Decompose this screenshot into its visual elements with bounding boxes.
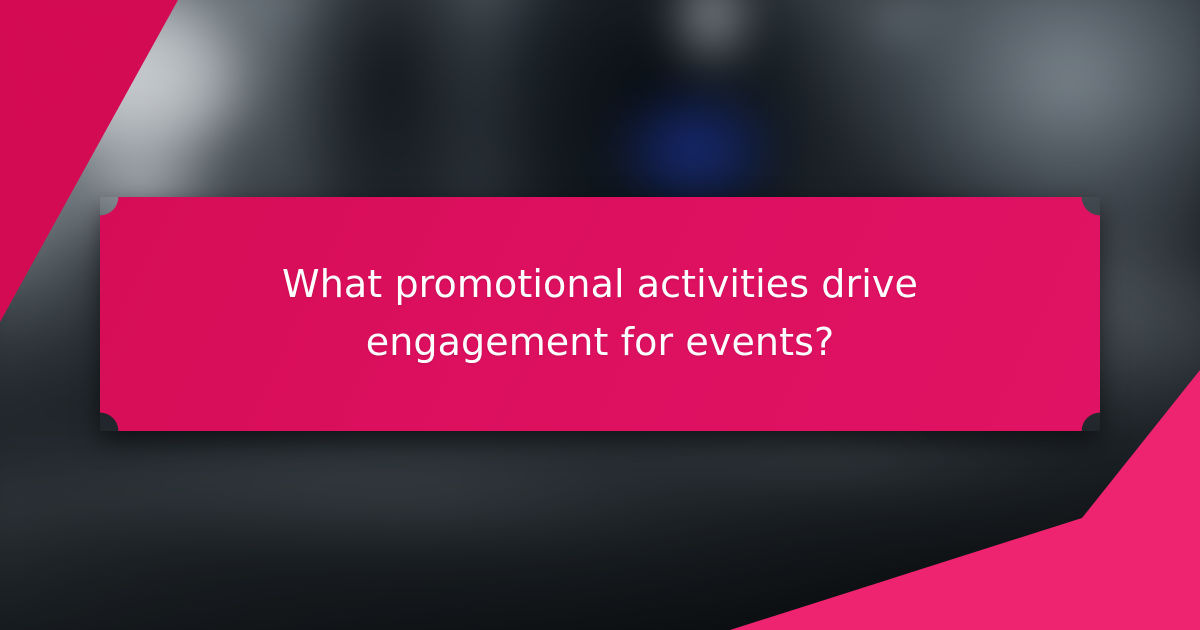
headline-banner: What promotional activities drive engage…	[100, 197, 1100, 431]
social-card: What promotional activities drive engage…	[0, 0, 1200, 630]
page-title: What promotional activities drive engage…	[220, 256, 980, 372]
